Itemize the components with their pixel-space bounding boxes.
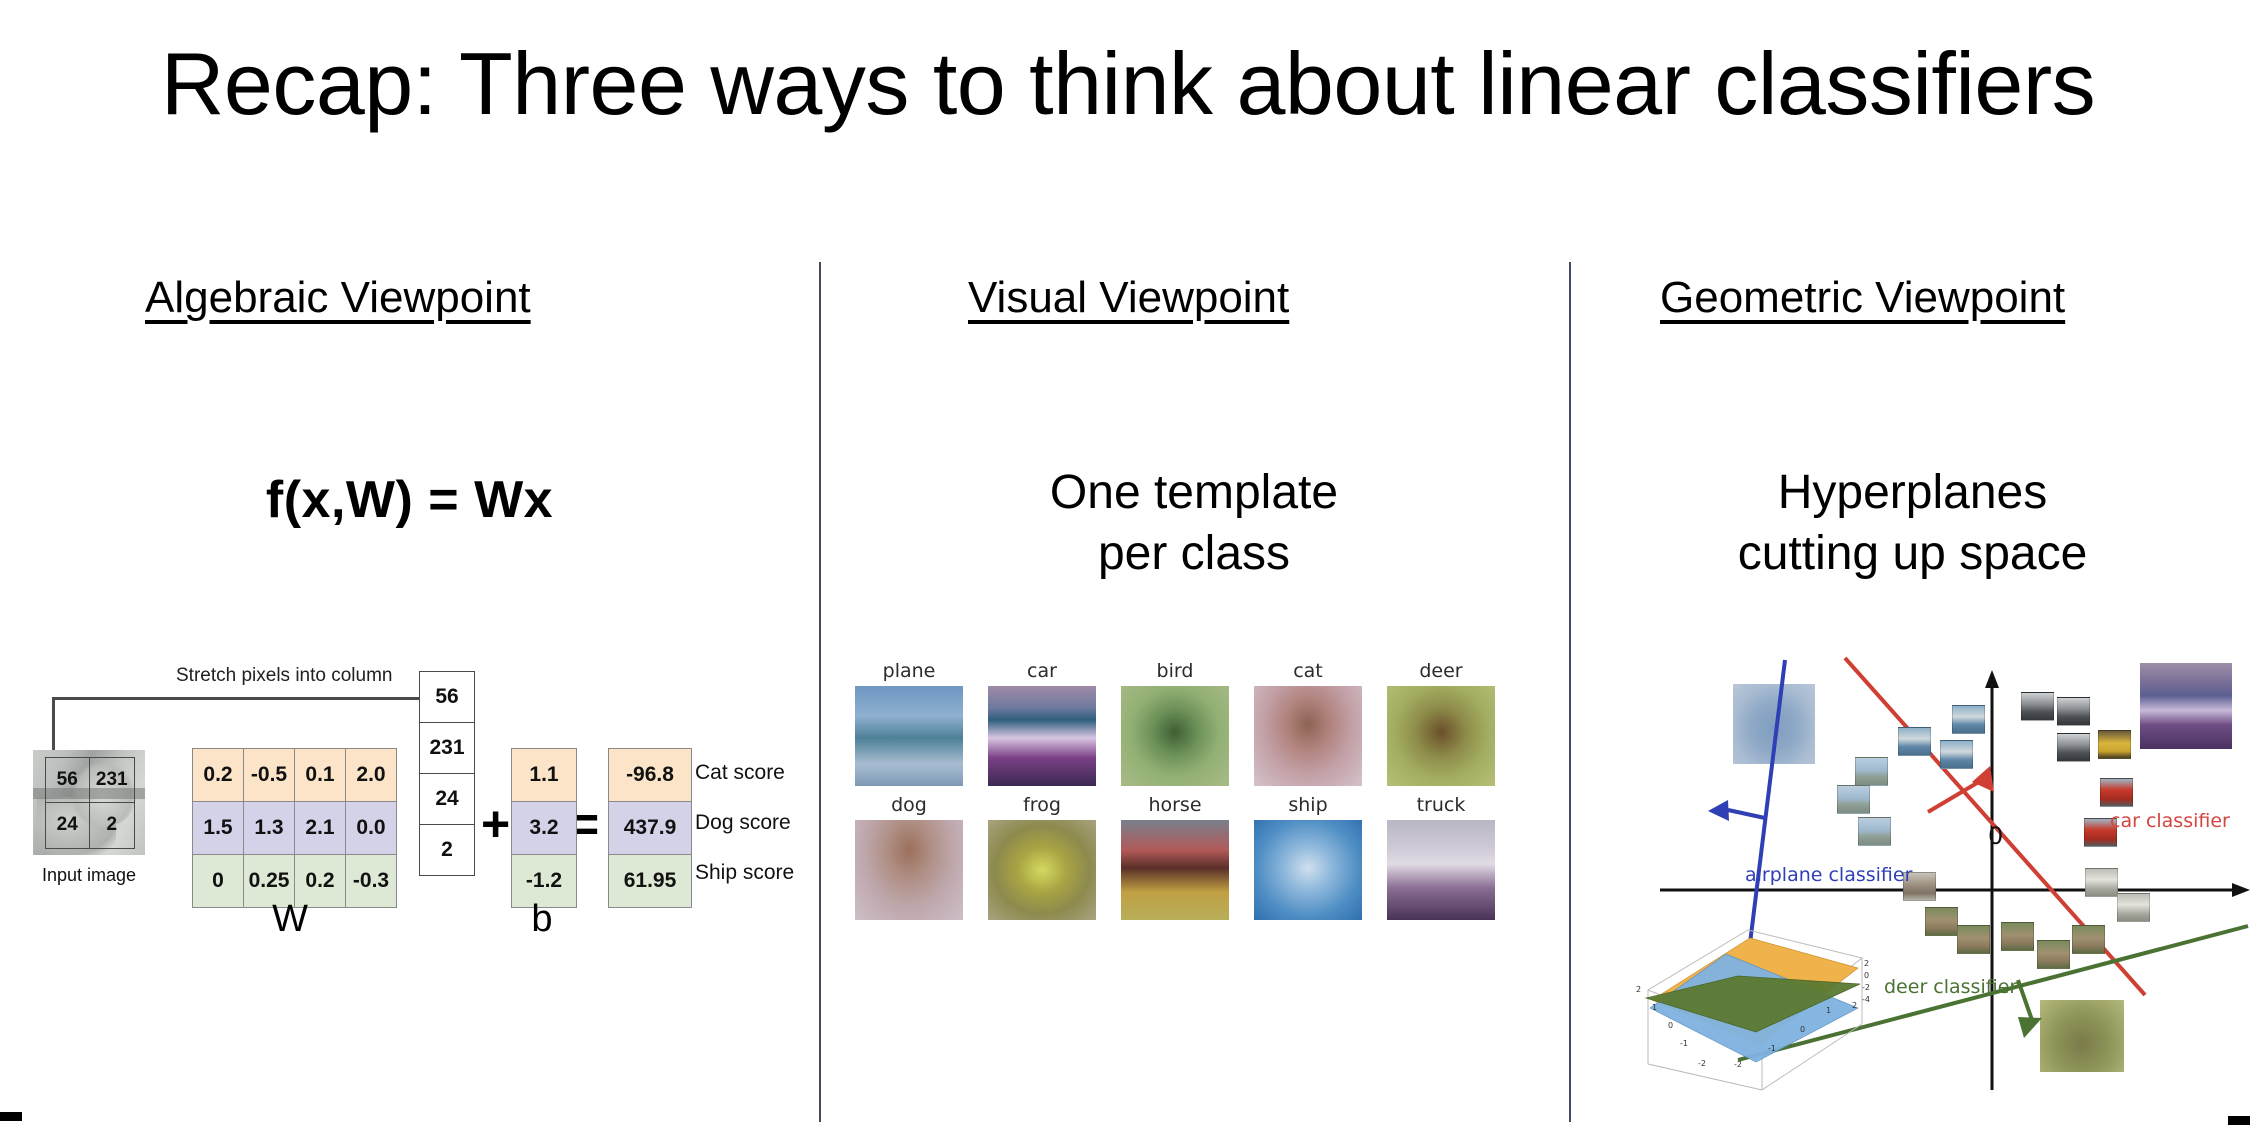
deer-normal-arrow-icon — [2018, 1017, 2042, 1038]
template-label-ship: ship — [1254, 794, 1362, 816]
score-cell-dog: 437.9 — [609, 802, 692, 855]
thumbnail-car-3 — [2057, 733, 2090, 762]
svg-text:2: 2 — [1864, 959, 1869, 968]
template-truck: truck — [1387, 794, 1495, 920]
bias-row-dog: 3.2 — [512, 802, 577, 855]
template-label-truck: truck — [1387, 794, 1495, 816]
template-image-cat — [1254, 686, 1362, 786]
svg-text:1: 1 — [1826, 1006, 1831, 1015]
score-row-dog: 437.9 — [609, 802, 692, 855]
score-row-ship: 61.95 — [609, 855, 692, 908]
template-dog: dog — [855, 794, 963, 920]
weight-matrix-label: W — [192, 898, 388, 941]
visual-subtitle-line-1: One template — [819, 462, 1569, 523]
bias-vector: 1.13.2-1.2 — [511, 748, 577, 908]
deer-classifier-label: deer classifier — [1884, 976, 2017, 998]
airplane-normal-arrow-icon — [1708, 800, 1729, 821]
weight-cell-cat-2: -0.5 — [244, 749, 295, 802]
score-label-list: Cat scoreDog scoreShip score — [695, 748, 794, 898]
svg-text:-1: -1 — [1680, 1039, 1688, 1048]
input-vector-row: 56 — [420, 672, 475, 723]
input-vector-cell-4: 2 — [420, 825, 475, 876]
template-car: car — [988, 660, 1096, 786]
thumbnail-ship-2 — [1952, 705, 1985, 734]
score-label-dog: Dog score — [695, 798, 794, 848]
template-image-dog — [855, 820, 963, 920]
thumbnail-deer-2 — [1957, 925, 1990, 954]
bias-cell-cat: 1.1 — [512, 749, 577, 802]
bias-cell-dog: 3.2 — [512, 802, 577, 855]
template-label-frog: frog — [988, 794, 1096, 816]
weight-cell-cat-4: 2.0 — [346, 749, 397, 802]
svg-text:2: 2 — [1636, 985, 1641, 994]
score-label-ship: Ship score — [695, 848, 794, 898]
thumbnail-deer-5 — [2072, 925, 2105, 954]
airplane-classifier-label: airplane classifier — [1745, 864, 1912, 886]
slide-canvas: Recap: Three ways to think about linear … — [0, 0, 2256, 1130]
weight-matrix: 0.2-0.50.12.01.51.32.10.000.250.2-0.3 — [192, 748, 397, 908]
geometric-subtitle-line-1: Hyperplanes — [1569, 462, 2256, 523]
thumbnail-car-2 — [2057, 697, 2090, 726]
column-divider-left — [819, 262, 821, 1122]
thumbnail-deer-3 — [2001, 922, 2034, 951]
plus-operator: + — [481, 795, 510, 853]
input-pixel-4: 2 — [89, 802, 135, 849]
svg-text:0: 0 — [1800, 1025, 1805, 1034]
template-image-frog — [988, 820, 1096, 920]
svg-text:0: 0 — [1864, 971, 1869, 980]
template-label-plane: plane — [855, 660, 963, 682]
input-vector-column: 56231242 — [419, 671, 475, 876]
svg-text:-2: -2 — [1698, 1059, 1706, 1068]
template-image-car — [988, 686, 1096, 786]
column-divider-right — [1569, 262, 1571, 1122]
template-ship: ship — [1254, 794, 1362, 920]
input-image-caption: Input image — [33, 865, 145, 886]
thumbnail-deer-4 — [2037, 940, 2070, 969]
template-row-1: planecarbirdcatdeer — [855, 660, 1535, 786]
linear-classifier-formula: f(x,W) = Wx — [0, 470, 819, 530]
template-image-deer — [1387, 686, 1495, 786]
input-vector-row: 231 — [420, 723, 475, 774]
template-image-ship — [1254, 820, 1362, 920]
input-pixel-grid: 56231242 — [45, 757, 134, 848]
template-label-car: car — [988, 660, 1096, 682]
score-vector: -96.8437.961.95 — [608, 748, 692, 908]
weight-cell-dog-3: 2.1 — [295, 802, 346, 855]
template-deer: deer — [1387, 660, 1495, 786]
input-pixel-1: 56 — [45, 757, 91, 804]
score-cell-ship: 61.95 — [609, 855, 692, 908]
input-pixel-3: 24 — [45, 802, 91, 849]
origin-label: 0 — [1988, 822, 2003, 850]
template-horse: horse — [1121, 794, 1229, 920]
thumbnail-plane-1 — [1855, 757, 1888, 786]
input-vector-cell-1: 56 — [420, 672, 475, 723]
template-plane: plane — [855, 660, 963, 786]
template-label-dog: dog — [855, 794, 963, 816]
thumbnail-car-4 — [2098, 730, 2131, 759]
svg-text:-1: -1 — [1768, 1044, 1776, 1053]
template-label-deer: deer — [1387, 660, 1495, 682]
input-pixel-2: 231 — [89, 757, 135, 804]
weight-cell-cat-1: 0.2 — [193, 749, 244, 802]
geometric-viewpoint-subtitle: Hyperplanes cutting up space — [1569, 462, 2256, 585]
thumbnail-plane-3 — [1858, 817, 1891, 846]
class-template-grid: planecarbirdcatdeerdogfroghorseshiptruck — [855, 660, 1535, 928]
y-axis-arrow-icon — [1985, 670, 1999, 688]
weight-cell-dog-2: 1.3 — [244, 802, 295, 855]
slide-corner-mark-left — [0, 1112, 22, 1121]
score-label-cat: Cat score — [695, 748, 794, 798]
car-normal-vector — [1928, 780, 1982, 812]
stretch-pixels-caption: Stretch pixels into column — [176, 665, 393, 687]
x-axis-arrow-icon — [2232, 883, 2250, 897]
svg-text:0: 0 — [1668, 1021, 1673, 1030]
thumbnail-bird-2 — [2117, 893, 2150, 922]
thumbnail-deer-1 — [1925, 907, 1958, 936]
input-vector-cell-2: 231 — [420, 723, 475, 774]
template-label-bird: bird — [1121, 660, 1229, 682]
weight-cell-dog-1: 1.5 — [193, 802, 244, 855]
bias-vector-label: b — [511, 898, 573, 941]
template-label-horse: horse — [1121, 794, 1229, 816]
thumbnail-ship-3 — [1940, 740, 1973, 769]
score-row-cat: -96.8 — [609, 749, 692, 802]
score-cell-cat: -96.8 — [609, 749, 692, 802]
thumbnail-car-1 — [2021, 692, 2054, 721]
thumbnail-plane-2 — [1837, 785, 1870, 814]
template-image-bird — [1121, 686, 1229, 786]
car-classifier-label: car classifier — [2110, 810, 2230, 832]
stretch-connector-left — [52, 697, 55, 753]
svg-text:1: 1 — [1652, 1003, 1657, 1012]
bias-row-cat: 1.1 — [512, 749, 577, 802]
thumbnail-ship-1 — [1898, 727, 1931, 756]
visual-subtitle-line-2: per class — [819, 523, 1569, 584]
weight-cell-cat-3: 0.1 — [295, 749, 346, 802]
input-vector-cell-3: 24 — [420, 774, 475, 825]
input-vector-row: 24 — [420, 774, 475, 825]
svg-text:-2: -2 — [1734, 1060, 1742, 1069]
svg-text:-4: -4 — [1862, 995, 1870, 1004]
template-image-truck — [1387, 820, 1495, 920]
algebraic-viewpoint-heading: Algebraic Viewpoint — [145, 273, 531, 323]
template-row-2: dogfroghorseshiptruck — [855, 794, 1535, 920]
svg-text:2: 2 — [1852, 1001, 1857, 1010]
thumbnail-bird-1 — [2085, 868, 2118, 897]
input-vector-row: 2 — [420, 825, 475, 876]
airplane-normal-vector — [1728, 810, 1765, 818]
weight-row-cat: 0.2-0.50.12.0 — [193, 749, 397, 802]
geometric-subtitle-line-2: cutting up space — [1569, 523, 2256, 584]
template-bird: bird — [1121, 660, 1229, 786]
stretch-connector-horizontal — [52, 697, 444, 700]
template-label-cat: cat — [1254, 660, 1362, 682]
hyperplane-surface-plot-3d: 2 1 0 -1 -2 -2 -1 0 1 2 2 0 -2 -4 — [1630, 912, 1880, 1092]
geometric-viewpoint-heading: Geometric Viewpoint — [1660, 273, 2065, 323]
weight-row-dog: 1.51.32.10.0 — [193, 802, 397, 855]
visual-viewpoint-subtitle: One template per class — [819, 462, 1569, 585]
thumbnail-car-5 — [2100, 778, 2133, 807]
template-image-plane — [855, 686, 963, 786]
slide-corner-mark-right — [2228, 1116, 2250, 1125]
template-image-horse — [1121, 820, 1229, 920]
visual-viewpoint-heading: Visual Viewpoint — [968, 273, 1289, 323]
svg-text:-2: -2 — [1862, 983, 1870, 992]
weight-cell-dog-4: 0.0 — [346, 802, 397, 855]
template-cat: cat — [1254, 660, 1362, 786]
template-frog: frog — [988, 794, 1096, 920]
page-title: Recap: Three ways to think about linear … — [0, 38, 2256, 130]
